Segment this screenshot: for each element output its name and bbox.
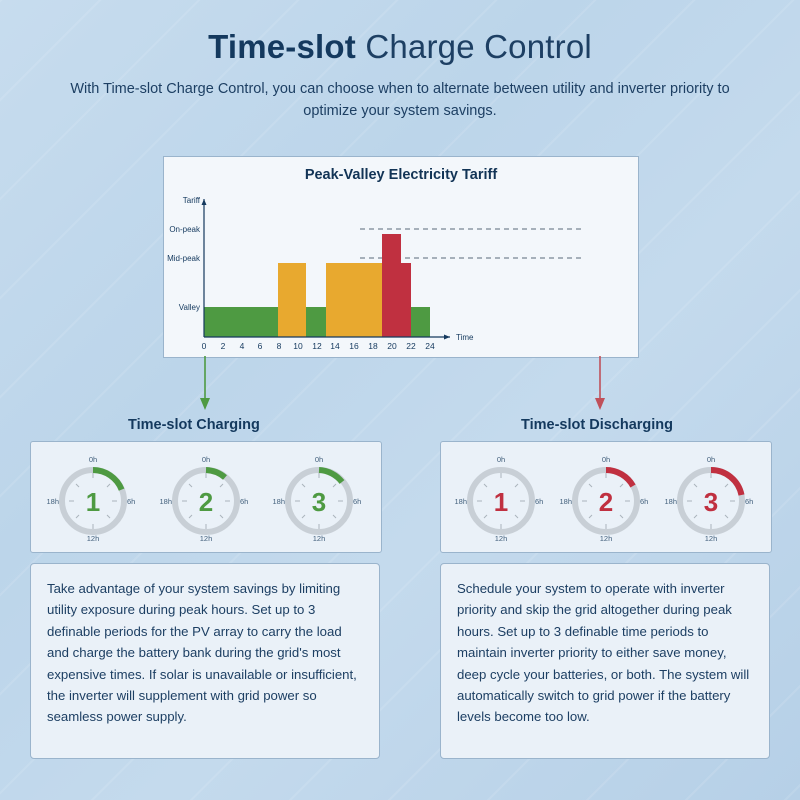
svg-text:8: 8 xyxy=(277,341,282,351)
discharging-dial-2-top-label: 0h xyxy=(602,455,610,464)
svg-text:22: 22 xyxy=(406,341,416,351)
charging-dial-1-bottom-label: 12h xyxy=(87,534,100,543)
charging-dial-2-left-label: 18h xyxy=(160,497,172,506)
discharging-dial-3-bottom-label: 12h xyxy=(705,534,718,543)
bar-midpeak-13-19 xyxy=(326,263,382,337)
page-title: Time-slot Charge Control xyxy=(0,0,800,66)
y-tick-mid-peak: Mid-peak xyxy=(167,254,201,263)
charging-dial-2-top-label: 0h xyxy=(202,455,210,464)
charging-dial-1-right-label: 6h xyxy=(127,497,135,506)
y-tick-on-peak: On-peak xyxy=(169,225,201,234)
discharging-dial-3-number: 3 xyxy=(704,487,718,517)
page-title-bold: Time-slot xyxy=(208,28,356,65)
y-tick-valley: Valley xyxy=(179,303,200,312)
svg-text:6: 6 xyxy=(258,341,263,351)
x-tick-labels: 0 2 4 6 8 10 12 14 16 18 20 22 24 xyxy=(202,341,435,351)
charging-dial-3-right-label: 6h xyxy=(353,497,361,506)
svg-text:14: 14 xyxy=(330,341,340,351)
charging-description-card: Take advantage of your system savings by… xyxy=(30,563,380,759)
discharging-dial-panel: 1 0h 6h 12h 18h 2 0h 6h 12h 18h xyxy=(440,441,772,553)
discharging-dial-1-left-label: 18h xyxy=(455,497,467,506)
bar-midpeak-21-22 xyxy=(401,263,411,337)
discharging-dial-2-bottom-label: 12h xyxy=(600,534,613,543)
charging-dial-3-number: 3 xyxy=(312,487,326,517)
discharging-dial-2-left-label: 18h xyxy=(560,497,572,506)
discharging-dial-2-number: 2 xyxy=(599,487,613,517)
svg-text:20: 20 xyxy=(387,341,397,351)
bar-valley-0-8 xyxy=(204,307,278,337)
charging-dial-1[interactable]: 1 0h 6h 12h 18h xyxy=(47,451,139,543)
page-subtitle: With Time-slot Charge Control, you can c… xyxy=(70,78,730,123)
x-axis-title: Time xyxy=(456,333,474,342)
svg-text:18: 18 xyxy=(368,341,378,351)
svg-text:4: 4 xyxy=(240,341,245,351)
page-title-rest: Charge Control xyxy=(356,28,592,65)
discharging-dial-1-right-label: 6h xyxy=(535,497,543,506)
charging-dial-2-right-label: 6h xyxy=(240,497,248,506)
svg-text:16: 16 xyxy=(349,341,359,351)
discharging-dial-1-top-label: 0h xyxy=(497,455,505,464)
charging-dial-2-number: 2 xyxy=(199,487,213,517)
svg-text:10: 10 xyxy=(293,341,303,351)
bar-midpeak-8-11 xyxy=(278,263,306,337)
charging-dial-1-left-label: 18h xyxy=(47,497,59,506)
left-connector-arrowhead xyxy=(200,398,210,410)
discharging-dial-2-right-label: 6h xyxy=(640,497,648,506)
charging-dial-2[interactable]: 2 0h 6h 12h 18h xyxy=(160,451,252,543)
bar-valley-22-24 xyxy=(411,307,430,337)
charging-dial-3[interactable]: 3 0h 6h 12h 18h xyxy=(273,451,365,543)
page-root: Time-slot Charge Control With Time-slot … xyxy=(0,0,800,800)
discharging-dial-3-left-label: 18h xyxy=(665,497,677,506)
svg-text:2: 2 xyxy=(221,341,226,351)
x-axis-arrow xyxy=(444,335,450,340)
bar-onpeak-19-21 xyxy=(382,234,401,337)
discharging-section-title: Time-slot Discharging xyxy=(521,417,673,433)
charging-dial-panel: 1 0h 6h 12h 18h 2 0h 6h 12h 18h xyxy=(30,441,382,553)
charging-dial-3-left-label: 18h xyxy=(273,497,285,506)
charging-dial-3-top-label: 0h xyxy=(315,455,323,464)
charging-dial-1-number: 1 xyxy=(86,487,100,517)
tariff-chart-card: Peak-Valley Electricity Tariff xyxy=(163,156,639,358)
charging-section-title: Time-slot Charging xyxy=(128,417,260,433)
discharging-dial-3[interactable]: 3 0h 6h 12h 18h xyxy=(665,451,757,543)
tariff-chart: Tariff Time On-peak Mid-peak Valley 0 2 … xyxy=(164,157,638,357)
charging-dial-1-top-label: 0h xyxy=(89,455,97,464)
discharging-dial-2[interactable]: 2 0h 6h 12h 18h xyxy=(560,451,652,543)
svg-text:12: 12 xyxy=(312,341,322,351)
bar-series xyxy=(204,234,430,337)
charging-dial-2-bottom-label: 12h xyxy=(200,534,213,543)
discharging-dial-3-top-label: 0h xyxy=(707,455,715,464)
discharging-dial-1[interactable]: 1 0h 6h 12h 18h xyxy=(455,451,547,543)
bar-valley-11-13 xyxy=(306,307,326,337)
y-axis-arrow xyxy=(202,199,207,205)
discharging-description-card: Schedule your system to operate with inv… xyxy=(440,563,770,759)
svg-text:0: 0 xyxy=(202,341,207,351)
right-connector-arrowhead xyxy=(595,398,605,410)
discharging-dial-1-bottom-label: 12h xyxy=(495,534,508,543)
discharging-dial-1-number: 1 xyxy=(494,487,508,517)
y-axis-title: Tariff xyxy=(183,196,201,205)
connector-arrows xyxy=(0,352,800,442)
discharging-dial-3-right-label: 6h xyxy=(745,497,753,506)
charging-dial-3-bottom-label: 12h xyxy=(313,534,326,543)
svg-text:24: 24 xyxy=(425,341,435,351)
